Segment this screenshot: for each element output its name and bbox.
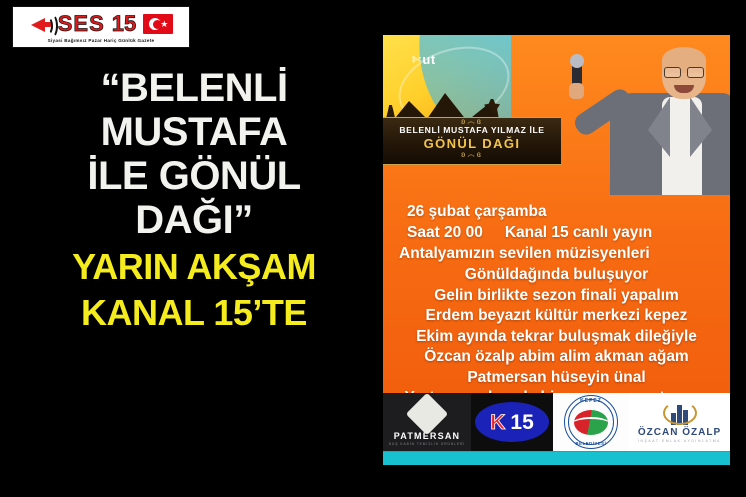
headline-block: “BELENLİ MUSTAFA İLE GÖNÜL DAĞI” YARIN A… bbox=[18, 66, 370, 334]
sponsor-ozcan-ozalp: ÖZCAN ÖZALP İNŞAAT EMLAK AYDINLATMA bbox=[629, 393, 730, 451]
sponsor-subtitle: DUŞ KABİN TEMİZLİK ÜRÜNLERİ bbox=[389, 442, 466, 446]
banner-line-2: GÖNÜL DAĞI bbox=[383, 136, 561, 151]
newspaper-logo: SES 15 ★ Siyasi Bağımsız Pazar Hariç Gün… bbox=[12, 6, 190, 48]
headline-yellow-line-1: YARIN AKŞAM bbox=[18, 246, 370, 288]
poster-screenshot: SES 15 ★ Siyasi Bağımsız Pazar Hariç Gün… bbox=[0, 0, 746, 497]
megaphone-icon bbox=[29, 14, 55, 34]
credit-line: Erdem beyazıt kültür merkezi kepez bbox=[383, 306, 730, 327]
art-logo-text: ut bbox=[422, 52, 435, 67]
accent-strip bbox=[383, 452, 730, 465]
diamond-icon bbox=[406, 393, 448, 435]
tower-emblem-icon bbox=[663, 401, 697, 425]
poster-title-banner: ʚ෴ɞ BELENLİ MUSTAFA YILMAZ İLE GÖNÜL DAĞ… bbox=[383, 117, 561, 165]
event-time: Saat 20 00 bbox=[407, 222, 483, 243]
glasses-icon bbox=[664, 67, 704, 76]
kepez-emblem bbox=[574, 410, 608, 435]
headline-line-3: İLE GÖNÜL bbox=[18, 154, 370, 198]
credit-line: Ekim ayında tekrar buluşmak dileğiyle bbox=[383, 327, 730, 348]
credit-line: Gelin birlikte sezon finali yapalım bbox=[383, 286, 730, 307]
sponsor-logos: PATMERSAN DUŞ KABİN TEMİZLİK ÜRÜNLERİ K … bbox=[383, 389, 730, 451]
sponsor-patmersan: PATMERSAN DUŞ KABİN TEMİZLİK ÜRÜNLERİ bbox=[383, 393, 471, 451]
credit-line: Patmersan hüseyin ünal bbox=[383, 368, 730, 389]
event-channel: Kanal 15 canlı yayın bbox=[505, 222, 652, 243]
headline-line-2: MUSTAFA bbox=[18, 110, 370, 154]
kepez-top-text: KEPEZ bbox=[580, 398, 602, 404]
headline-yellow-line-2: KANAL 15’TE bbox=[18, 292, 370, 334]
credit-line: Özcan özalp abim alim akman ağam bbox=[383, 347, 730, 368]
kanal-number: 15 bbox=[510, 412, 533, 433]
presenter-photo bbox=[610, 35, 730, 195]
event-subtitle: Antalyamızın sevilen müzisyenleri bbox=[383, 243, 730, 265]
kanal15-oval: K 15 bbox=[475, 402, 549, 442]
logo-number: 15 bbox=[112, 13, 136, 35]
sponsor-name: ÖZCAN ÖZALP bbox=[638, 427, 721, 438]
ornament-bottom: ʚ෴ɞ bbox=[383, 151, 561, 158]
turkish-flag-icon: ★ bbox=[143, 14, 173, 34]
logo-name: SES bbox=[58, 13, 105, 35]
kepez-bottom-text: BELEDİYESİ bbox=[576, 441, 607, 446]
sponsor-subtitle: İNŞAAT EMLAK AYDINLATMA bbox=[638, 439, 721, 443]
logo-row: SES 15 ★ bbox=[13, 11, 189, 37]
kepez-seal-icon: KEPEZ BELEDİYESİ bbox=[564, 395, 618, 449]
hand-shape bbox=[569, 83, 584, 99]
headline-line-4: DAĞI” bbox=[18, 198, 370, 242]
credit-line: Gönüldağında buluşuyor bbox=[383, 265, 730, 286]
event-time-channel-row: Saat 20 00 Kanal 15 canlı yayın bbox=[383, 222, 730, 243]
logo-tagline: Siyasi Bağımsız Pazar Hariç Günlük Gazet… bbox=[48, 38, 155, 43]
kanal-letter: K bbox=[490, 412, 505, 433]
event-poster: ✄ut ʚ෴ɞ BELENLİ MUSTAFA YILMAZ İLE GÖNÜL… bbox=[383, 35, 730, 465]
channel-art-logo: ✄ut bbox=[411, 52, 436, 68]
sponsor-kepez-belediyesi: KEPEZ BELEDİYESİ bbox=[553, 393, 629, 451]
ornament-top: ʚ෴ɞ bbox=[383, 118, 561, 125]
event-date: 26 şubat çarşamba bbox=[383, 201, 730, 222]
banner-line-1: BELENLİ MUSTAFA YILMAZ İLE bbox=[383, 125, 561, 136]
headline-line-1: “BELENLİ bbox=[18, 66, 370, 110]
sponsor-kanal15: K 15 bbox=[471, 393, 553, 451]
